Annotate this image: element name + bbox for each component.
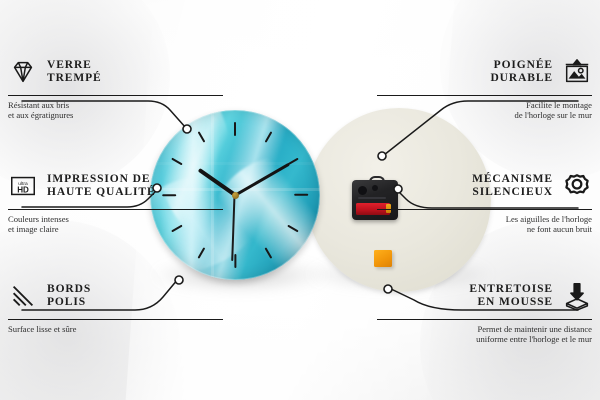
feature-header: ENTRETOISE EN MOUSSE xyxy=(377,276,592,316)
feature-description: Résistant aux bris et aux égratignures xyxy=(8,100,223,121)
feature-title: VERRE TREMPÉ xyxy=(47,59,102,85)
hanging-frame-icon xyxy=(562,57,592,87)
feature-header: POIGNÉE DURABLE xyxy=(377,52,592,92)
feature-divider xyxy=(8,209,223,210)
feature-title: IMPRESSION DE HAUTE QUALITÉ xyxy=(47,173,156,199)
feature-header: VERRE TREMPÉ xyxy=(8,52,223,92)
feature-description: Surface lisse et sûre xyxy=(8,324,223,334)
feature-bords-polis: BORDS POLIS Surface lisse et sûre xyxy=(8,276,223,334)
feature-impression-haute-qualite: ultra HD IMPRESSION DE HAUTE QUALITÉ Cou… xyxy=(8,166,223,234)
diamond-icon xyxy=(8,57,38,87)
feature-divider xyxy=(377,319,592,320)
feature-description: Les aiguilles de l'horloge ne font aucun… xyxy=(377,214,592,235)
feature-divider xyxy=(377,209,592,210)
feature-title: ENTRETOISE EN MOUSSE xyxy=(469,283,553,309)
feature-description: Permet de maintenir une distance uniform… xyxy=(377,324,592,345)
polished-edges-icon xyxy=(8,281,38,311)
feature-entretoise-en-mousse: ENTRETOISE EN MOUSSE Permet de maintenir… xyxy=(377,276,592,344)
feature-title: POIGNÉE DURABLE xyxy=(490,59,553,85)
connector-dot-poignee xyxy=(378,152,386,160)
feature-poignee-durable: POIGNÉE DURABLE Facilite le montage de l… xyxy=(377,52,592,120)
feature-divider xyxy=(377,95,592,96)
feature-mecanisme-silencieux: MÉCANISME SILENCIEUX Les aiguilles de l'… xyxy=(377,166,592,234)
feature-description: Couleurs intenses et image claire xyxy=(8,214,223,235)
gear-icon xyxy=(562,171,592,201)
connector-dot-verre-trempe xyxy=(183,125,191,133)
foam-spacer-icon xyxy=(562,281,592,311)
feature-title: MÉCANISME SILENCIEUX xyxy=(472,173,553,199)
feature-header: BORDS POLIS xyxy=(8,276,223,316)
feature-header: ultra HD IMPRESSION DE HAUTE QUALITÉ xyxy=(8,166,223,206)
feature-divider xyxy=(8,95,223,96)
feature-description: Facilite le montage de l'horloge sur le … xyxy=(377,100,592,121)
feature-title: BORDS POLIS xyxy=(47,283,91,309)
feature-verre-trempe: VERRE TREMPÉ Résistant aux bris et aux é… xyxy=(8,52,223,120)
svg-text:HD: HD xyxy=(17,186,29,195)
feature-divider xyxy=(8,319,223,320)
ultra-hd-icon: ultra HD xyxy=(8,171,38,201)
feature-header: MÉCANISME SILENCIEUX xyxy=(377,166,592,206)
infographic-canvas: VERRE TREMPÉ Résistant aux bris et aux é… xyxy=(0,0,600,400)
